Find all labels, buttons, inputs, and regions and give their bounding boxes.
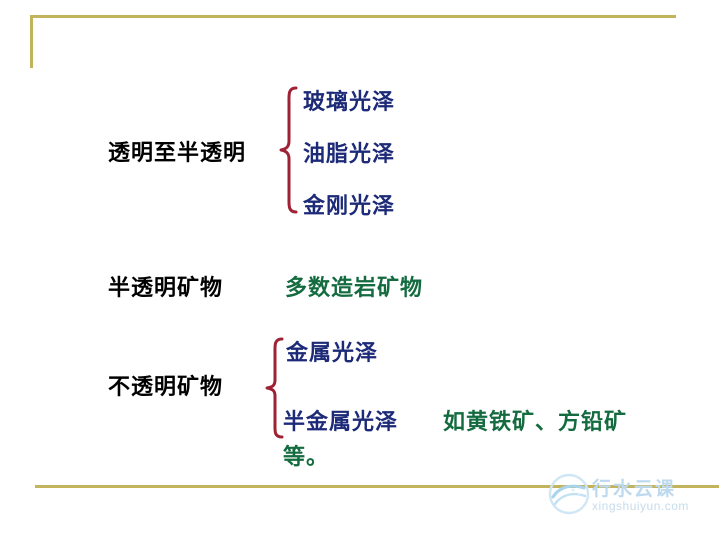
watermark-brand-cn: 行水云课: [592, 474, 676, 501]
item-example-continuation: 等。: [283, 443, 329, 471]
item-adamantine-luster: 金刚光泽: [303, 192, 395, 220]
group-label-transparent-to-translucent: 透明至半透明: [108, 139, 246, 167]
watermark: 行水云课 xingshuiyun.com: [548, 473, 720, 525]
group-label-translucent-mineral: 半透明矿物: [108, 274, 223, 302]
item-greasy-luster: 油脂光泽: [303, 140, 395, 168]
slide-canvas: 透明至半透明 玻璃光泽 油脂光泽 金刚光泽 半透明矿物 多数造岩矿物 不透明矿物…: [0, 0, 720, 540]
item-most-rock-forming-minerals: 多数造岩矿物: [285, 274, 423, 302]
curly-brace-group-1: [278, 85, 300, 215]
gold-top-rule: [30, 15, 676, 18]
item-metallic-luster: 金属光泽: [286, 339, 378, 367]
gold-left-rule: [30, 15, 33, 68]
group-label-opaque-mineral: 不透明矿物: [108, 373, 223, 401]
item-glass-luster: 玻璃光泽: [303, 88, 395, 116]
watermark-url: xingshuiyun.com: [592, 499, 689, 513]
wave-circle-logo-icon: [548, 473, 590, 515]
item-submetallic-luster: 半金属光泽: [283, 408, 398, 436]
item-example-pyrite-galena: 如黄铁矿、方铅矿: [443, 408, 627, 436]
